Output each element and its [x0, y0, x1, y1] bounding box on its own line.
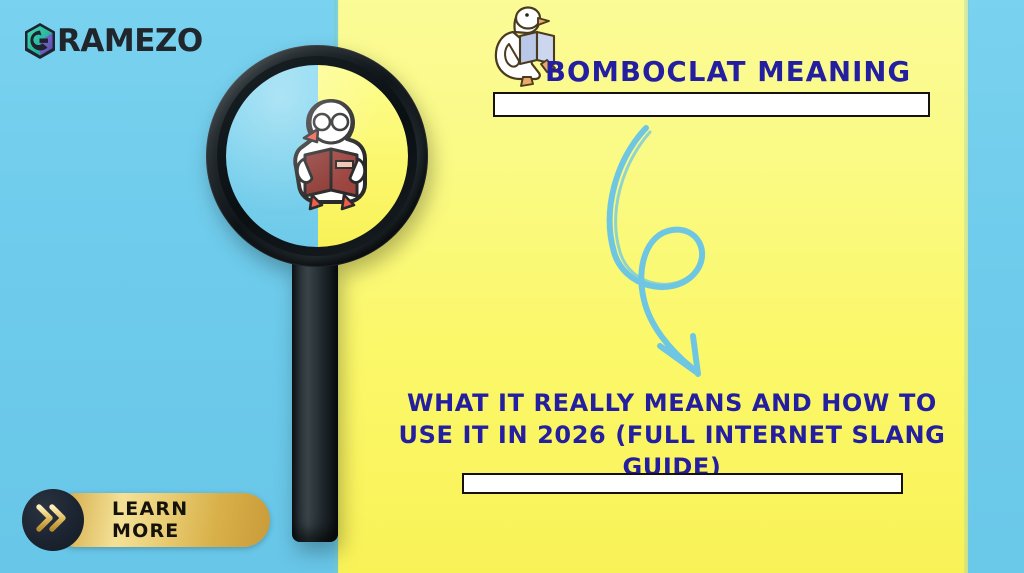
double-chevron-right-icon — [36, 504, 70, 537]
brand-name: RAMEZO — [57, 26, 203, 57]
magnifier-lens — [226, 65, 408, 247]
page-subtitle: WHAT IT REALLY MEANS AND HOW TO USE IT I… — [376, 387, 968, 483]
cta-label: LEARN MORE — [112, 493, 262, 547]
learn-more-button[interactable]: LEARN MORE — [22, 489, 270, 551]
curved-looping-arrow-icon — [588, 118, 738, 388]
magnifier-ring — [206, 45, 428, 267]
title-underline-bar-bottom — [462, 473, 903, 494]
goose-reading-book-sticker-icon — [284, 97, 379, 219]
background-panel-blue-right — [968, 0, 1024, 573]
page-title: BOMBOCLAT MEANING — [545, 56, 965, 88]
hexagon-cube-icon — [22, 21, 58, 61]
title-underline-bar-top — [493, 92, 930, 117]
cta-icon-circle — [22, 489, 84, 551]
magnifier-handle — [292, 250, 338, 542]
brand-logo[interactable]: RAMEZO — [22, 20, 203, 62]
banner-canvas: RAMEZO — [0, 0, 1024, 573]
